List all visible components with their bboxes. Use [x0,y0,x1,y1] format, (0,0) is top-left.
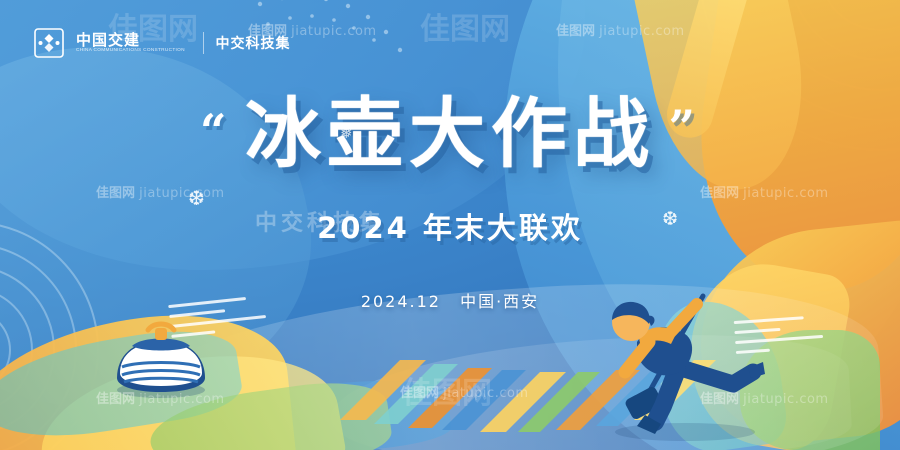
ccc-diamond-logo-icon [34,28,64,58]
logo-brand-unit: 中交科技集 [216,33,291,53]
watermark-large: 佳图网 [402,368,492,412]
snowflake-icon-small: ❅ [340,124,353,142]
watermark-large: 佳图网 [108,4,198,48]
curling-athlete-icon [585,272,775,447]
event-date: 2024.12 [361,292,441,311]
title-block: 冰壶大作战 [0,96,900,172]
watermark-large: 佳图网 [420,4,510,48]
event-location: 中国·西安 [460,292,539,311]
page-subtitle: 2024 年末大联欢 [0,205,900,247]
logo-divider [203,32,204,54]
curling-stone-icon [108,320,214,400]
logo-company-name-en: CHINA COMMUNICATIONS CONSTRUCTION [76,48,185,53]
page-title: 冰壶大作战 [245,96,655,172]
poster-canvas: 中国交建 CHINA COMMUNICATIONS CONSTRUCTION 中… [0,0,900,450]
